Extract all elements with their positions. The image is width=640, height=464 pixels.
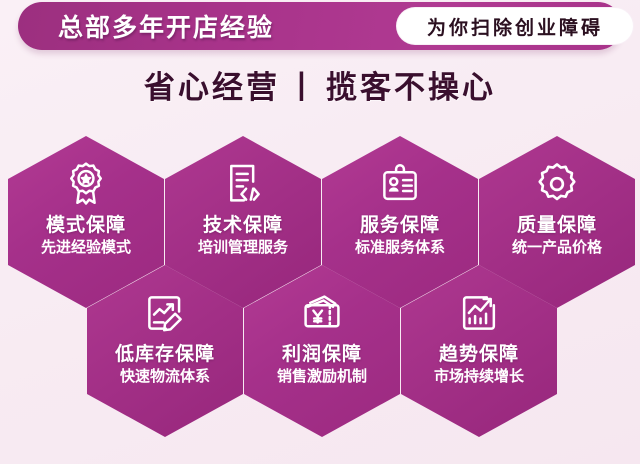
- award-badge-icon: [60, 158, 112, 210]
- feature-title: 技术保障: [203, 216, 283, 237]
- feature-subtitle: 销售激励机制: [277, 369, 367, 386]
- chart-pencil-icon: [139, 287, 191, 339]
- bar-chart-arrow-icon: [453, 287, 505, 339]
- feature-subtitle: 快速物流体系: [120, 369, 210, 386]
- feature-subtitle: 统一产品价格: [512, 240, 602, 257]
- feature-hexagon-grid: 模式保障 先进经验模式 技术保障 培训管理服务: [0, 0, 640, 464]
- money-yuan-icon: [296, 287, 348, 339]
- promo-banner-page: 总部多年开店经验 为你扫除创业障碍 省心经营丨揽客不操心 模式保障 先进经验模式: [0, 0, 640, 464]
- feature-title: 低库存保障: [115, 345, 215, 366]
- document-code-icon: [217, 158, 269, 210]
- feature-subtitle: 培训管理服务: [198, 240, 288, 257]
- feature-title: 模式保障: [46, 216, 126, 237]
- gear-icon: [531, 158, 583, 210]
- feature-subtitle: 标准服务体系: [355, 240, 445, 257]
- feature-subtitle: 市场持续增长: [434, 369, 524, 386]
- feature-title: 趋势保障: [439, 345, 519, 366]
- feature-title: 服务保障: [360, 216, 440, 237]
- feature-title: 质量保障: [517, 216, 597, 237]
- feature-subtitle: 先进经验模式: [41, 240, 131, 257]
- feature-title: 利润保障: [282, 345, 362, 366]
- id-badge-icon: [374, 158, 426, 210]
